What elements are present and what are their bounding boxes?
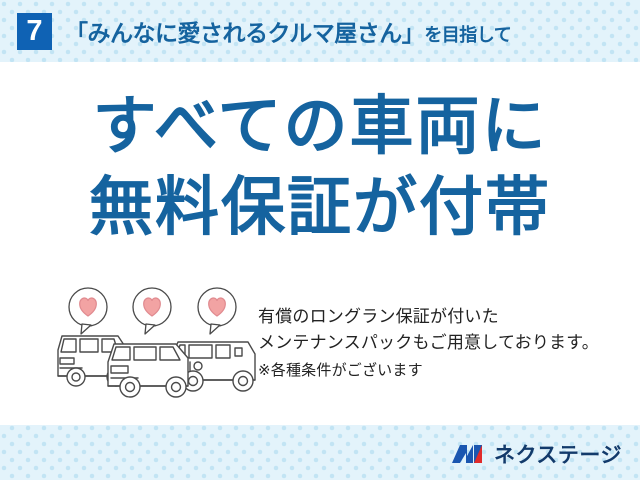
content-panel: すべての車両に 無料保証が付帯 xyxy=(0,62,640,425)
lower-section: 有償のロングラン保証が付いた メンテナンスパックもご用意しております。 ※各種条… xyxy=(0,284,640,414)
cars-illustration xyxy=(52,284,260,402)
footer-bar: ネクステージ xyxy=(0,425,640,480)
car-minivan xyxy=(108,344,188,397)
cars-svg xyxy=(52,284,260,402)
header-bar: 7 「みんなに愛されるクルマ屋さん」 を目指して xyxy=(0,0,640,62)
page-title: すべての車両に 無料保証が付帯 xyxy=(0,94,640,239)
header-title-tail: を目指して xyxy=(424,21,511,47)
header-title: 「みんなに愛されるクルマ屋さん」 を目指して xyxy=(65,14,511,48)
headline-line-1: すべての車両に xyxy=(0,94,640,158)
advertisement-canvas: 7 「みんなに愛されるクルマ屋さん」 を目指して すべての車両に 無料保証が付帯 xyxy=(0,0,640,480)
description-line-2: メンテナンスパックもご用意しております。 xyxy=(258,330,630,356)
description-line-1: 有償のロングラン保証が付いた xyxy=(258,304,630,330)
header-title-main: 「みんなに愛されるクルマ屋さん」 xyxy=(65,14,424,48)
brand-name: ネクステージ xyxy=(494,439,622,469)
nexstage-n-logo-icon xyxy=(451,442,485,466)
brand-logo: ネクステージ xyxy=(451,439,622,469)
headline-line-2: 無料保証が付帯 xyxy=(0,175,640,239)
description-text: 有償のロングラン保証が付いた メンテナンスパックもご用意しております。 ※各種条… xyxy=(258,304,630,382)
description-note: ※各種条件がございます xyxy=(258,359,630,382)
section-number-badge: 7 xyxy=(17,13,52,50)
